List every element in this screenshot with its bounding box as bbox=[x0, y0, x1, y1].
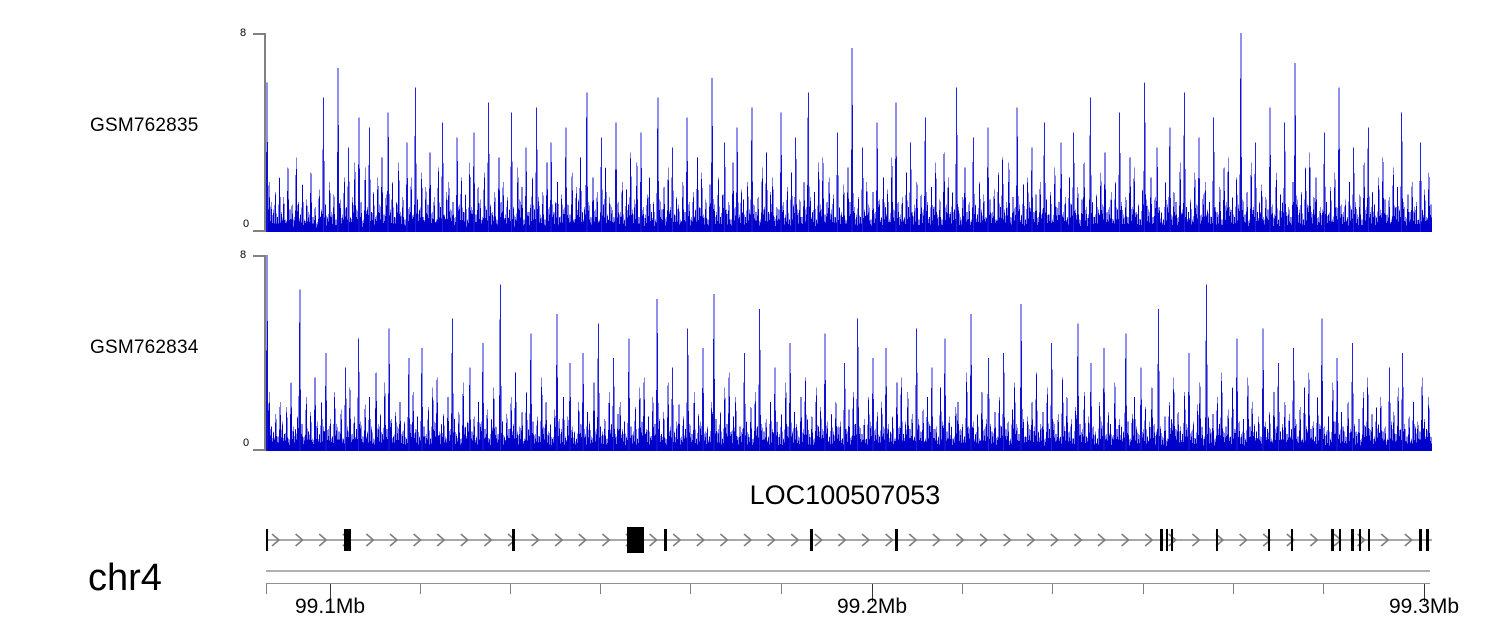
ruler-minor-tick bbox=[1052, 584, 1053, 594]
coverage-plot-gsm762834 bbox=[266, 255, 1432, 451]
track2-ytick-min bbox=[253, 449, 264, 451]
ruler-minor-tick bbox=[962, 584, 963, 594]
ruler-minor-tick bbox=[420, 584, 421, 594]
track1-yaxis-min-label: 0 bbox=[243, 218, 249, 230]
gene-model[interactable] bbox=[266, 524, 1432, 556]
ruler-minor-tick bbox=[600, 584, 601, 594]
track-label-gsm762835: GSM762835 bbox=[90, 115, 198, 137]
ruler-minor-tick bbox=[690, 584, 691, 594]
ruler-minor-tick bbox=[781, 584, 782, 594]
ruler-minor-tick bbox=[1233, 584, 1234, 594]
ruler-label: 99.1Mb bbox=[295, 595, 365, 619]
chromosome-label: chr4 bbox=[88, 557, 162, 600]
ruler-label: 99.3Mb bbox=[1389, 595, 1459, 619]
track2-yaxis-max-label: 8 bbox=[240, 249, 246, 261]
ruler-minor-tick bbox=[1323, 584, 1324, 594]
ruler-separator bbox=[266, 570, 1430, 572]
track1-yaxis-max-label: 8 bbox=[240, 27, 246, 39]
ruler-label: 99.2Mb bbox=[837, 595, 907, 619]
genome-browser-view: GSM762835 8 0 GSM762834 8 0 LOC100507053… bbox=[0, 0, 1500, 640]
coverage-plot-gsm762835 bbox=[266, 33, 1432, 232]
track2-yaxis-min-label: 0 bbox=[243, 437, 249, 449]
track1-ytick-max bbox=[253, 33, 264, 35]
ruler-minor-tick bbox=[510, 584, 511, 594]
ruler-minor-tick bbox=[266, 584, 267, 594]
track1-ytick-min bbox=[253, 230, 264, 232]
ruler-axis-line bbox=[266, 583, 1430, 584]
ruler-minor-tick bbox=[1143, 584, 1144, 594]
track2-ytick-max bbox=[253, 255, 264, 257]
gene-name-label[interactable]: LOC100507053 bbox=[95, 480, 1500, 511]
track-label-gsm762834: GSM762834 bbox=[90, 337, 198, 359]
